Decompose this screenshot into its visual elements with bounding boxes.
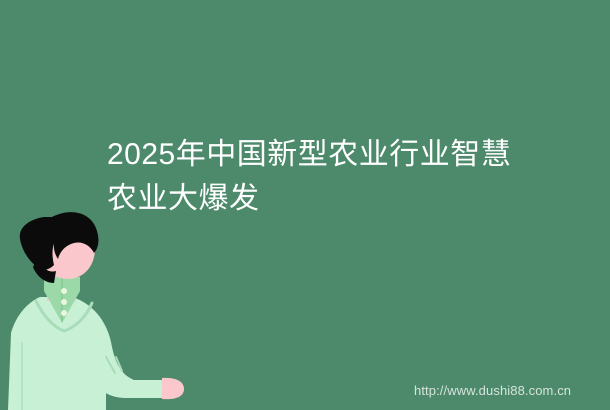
hand-shape: [162, 378, 184, 399]
collar-button-2: [61, 299, 67, 305]
person-illustration-svg: [0, 205, 210, 410]
collar-button-3: [61, 310, 67, 316]
person-illustration: [0, 205, 210, 410]
watermark-url: http://www.dushi88.com.cn: [414, 383, 571, 399]
collar-button-1: [61, 288, 67, 294]
page-title: 2025年中国新型农业行业智慧农业大爆发: [107, 133, 527, 221]
promo-banner: 2025年中国新型农业行业智慧农业大爆发 http://www.dushi88.…: [0, 0, 610, 410]
